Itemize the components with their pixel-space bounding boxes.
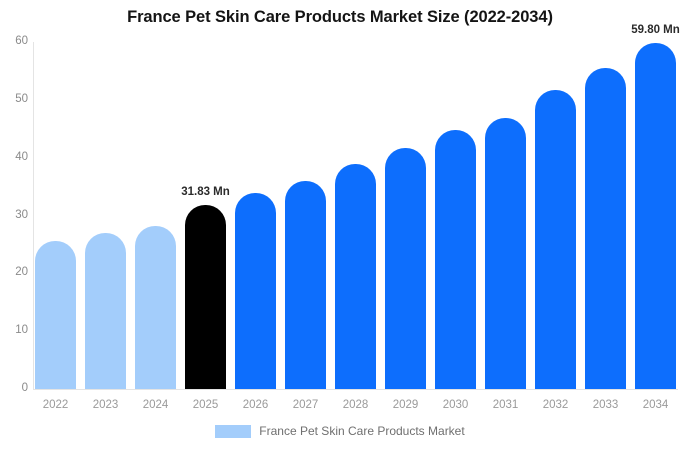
data-label-2034: 59.80 Mn xyxy=(608,24,680,36)
x-axis-tick-2034: 2034 xyxy=(632,399,680,412)
x-axis-tick-2033: 2033 xyxy=(582,399,630,412)
x-axis-tick-2023: 2023 xyxy=(82,399,130,412)
bar-2025[interactable] xyxy=(185,205,226,389)
x-axis-tick-2026: 2026 xyxy=(232,399,280,412)
bar-chart: France Pet Skin Care Products Market Siz… xyxy=(0,0,680,450)
x-axis-tick-2031: 2031 xyxy=(482,399,530,412)
bar-2030[interactable] xyxy=(435,130,476,389)
bar-2034[interactable] xyxy=(635,43,676,389)
x-axis-tick-2022: 2022 xyxy=(32,399,80,412)
bar-2028[interactable] xyxy=(335,164,376,389)
x-axis-tick-2027: 2027 xyxy=(282,399,330,412)
x-axis-tick-2024: 2024 xyxy=(132,399,180,412)
bars-layer: 31.83 Mn59.80 Mn xyxy=(0,0,680,450)
x-axis-tick-2028: 2028 xyxy=(332,399,380,412)
chart-legend: France Pet Skin Care Products Market xyxy=(0,425,680,438)
bar-2027[interactable] xyxy=(285,181,326,389)
bar-2033[interactable] xyxy=(585,68,626,389)
bar-2032[interactable] xyxy=(535,90,576,389)
bar-2029[interactable] xyxy=(385,148,426,389)
legend-item-0[interactable]: France Pet Skin Care Products Market xyxy=(215,425,464,438)
x-axis-tick-2032: 2032 xyxy=(532,399,580,412)
x-axis-tick-2030: 2030 xyxy=(432,399,480,412)
x-axis-tick-2029: 2029 xyxy=(382,399,430,412)
bar-2024[interactable] xyxy=(135,226,176,389)
legend-label: France Pet Skin Care Products Market xyxy=(259,425,464,438)
legend-swatch-icon xyxy=(215,425,251,438)
bar-2022[interactable] xyxy=(35,241,76,389)
x-axis-tick-labels: 2022202320242025202620272028202920302031… xyxy=(0,399,680,415)
bar-2031[interactable] xyxy=(485,118,526,389)
x-axis-tick-2025: 2025 xyxy=(182,399,230,412)
bar-2023[interactable] xyxy=(85,233,126,389)
bar-2026[interactable] xyxy=(235,193,276,389)
data-label-2025: 31.83 Mn xyxy=(158,186,254,198)
